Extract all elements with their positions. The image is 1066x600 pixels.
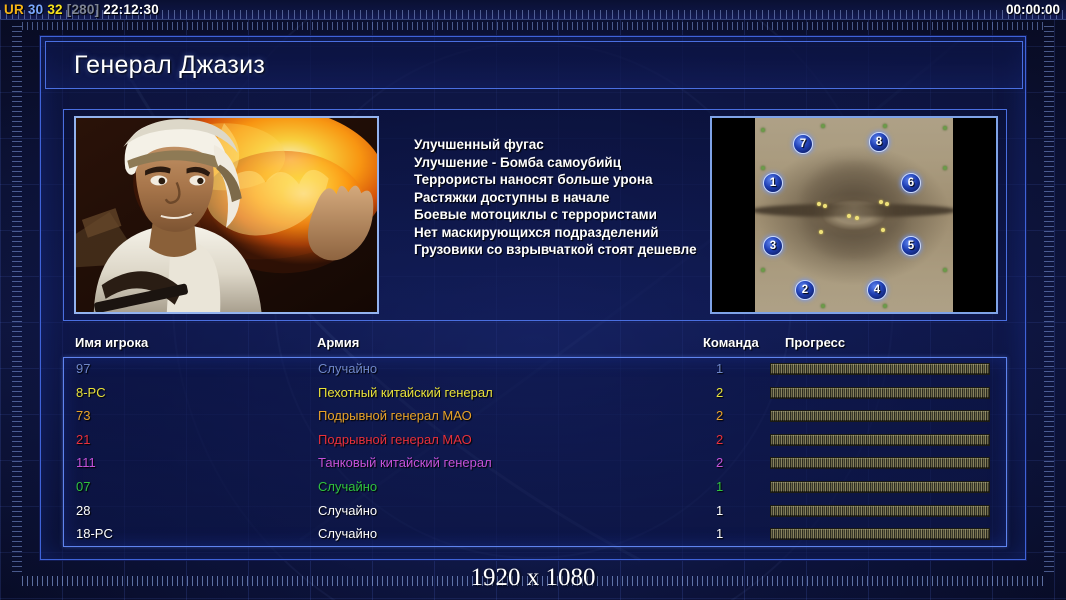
stat-bracket: [280] <box>67 2 100 17</box>
cell-team: 2 <box>716 408 723 423</box>
minimap-resource <box>855 216 859 220</box>
info-row: Улучшенный фугас Улучшение - Бомба самоу… <box>63 109 1007 321</box>
progress-bar <box>770 410 990 422</box>
top-status-bar: UR 30 32 [280] 22:12:30 00:00:00 <box>0 0 1066 20</box>
progress-bar <box>770 434 990 446</box>
title-bar: Генерал Джазиз <box>45 41 1023 89</box>
player-table-body: 97Случайно18-PCПехотный китайский генера… <box>63 357 1007 547</box>
minimap-start-position-1[interactable]: 1 <box>763 173 783 193</box>
minimap-resource <box>823 204 827 208</box>
minimap-resource <box>879 200 883 204</box>
cell-army: Случайно <box>318 479 377 494</box>
minimap-start-position-8[interactable]: 8 <box>869 132 889 152</box>
column-header-team: Команда <box>703 335 759 350</box>
minimap-prop <box>761 268 765 272</box>
minimap-prop <box>943 268 947 272</box>
cell-army: Пехотный китайский генерал <box>318 385 493 400</box>
description-line: Улучшенный фугас <box>414 136 754 154</box>
minimap-start-position-6[interactable]: 6 <box>901 173 921 193</box>
minimap-prop <box>943 126 947 130</box>
cell-team: 1 <box>716 479 723 494</box>
table-row[interactable]: 07Случайно1 <box>64 476 1006 500</box>
minimap-resource <box>885 202 889 206</box>
cell-player-name: 21 <box>76 432 90 447</box>
cell-army: Случайно <box>318 361 377 376</box>
cell-team: 2 <box>716 432 723 447</box>
minimap-resource <box>817 202 821 206</box>
minimap-prop <box>821 304 825 308</box>
progress-bar <box>770 481 990 493</box>
column-header-player-name: Имя игрока <box>75 335 148 350</box>
cell-team: 1 <box>716 503 723 518</box>
stat-clock: 22:12:30 <box>103 2 159 17</box>
minimap-start-position-2[interactable]: 2 <box>795 280 815 300</box>
stat-tag-u: UR <box>4 2 24 17</box>
cell-team: 2 <box>716 455 723 470</box>
minimap-prop <box>761 166 765 170</box>
column-header-army: Армия <box>317 335 359 350</box>
cell-player-name: 8-PC <box>76 385 106 400</box>
frame-ruler-left <box>12 26 22 574</box>
minimap-river <box>755 204 953 217</box>
description-line: Боевые мотоциклы с террористами <box>414 206 754 224</box>
cell-army: Случайно <box>318 526 377 541</box>
cell-player-name: 73 <box>76 408 90 423</box>
cell-player-name: 28 <box>76 503 90 518</box>
minimap-prop <box>943 166 947 170</box>
table-row[interactable]: 111Танковый китайский генерал2 <box>64 452 1006 476</box>
topbar-left-stats: UR 30 32 [280] 22:12:30 <box>0 2 163 17</box>
general-portrait <box>74 116 379 314</box>
minimap-prop <box>883 124 887 128</box>
cell-team: 2 <box>716 385 723 400</box>
cell-army: Подрывной генерал МАО <box>318 432 472 447</box>
minimap-start-position-3[interactable]: 3 <box>763 236 783 256</box>
progress-bar <box>770 363 990 375</box>
progress-bar <box>770 505 990 517</box>
column-header-progress: Прогресс <box>785 335 845 350</box>
cell-team: 1 <box>716 361 723 376</box>
table-row[interactable]: 73Подрывной генерал МАО2 <box>64 405 1006 429</box>
topbar-timer: 00:00:00 <box>1006 2 1060 17</box>
minimap-start-position-7[interactable]: 7 <box>793 134 813 154</box>
cell-player-name: 18-PC <box>76 526 113 541</box>
description-line: Грузовики со взрывчаткой стоят дешевле <box>414 241 754 259</box>
description-line: Террористы наносят больше урона <box>414 171 754 189</box>
progress-bar <box>770 528 990 540</box>
description-line: Нет маскирующихся подразделений <box>414 224 754 242</box>
main-panel: Генерал Джазиз <box>40 36 1026 560</box>
cell-army: Случайно <box>318 503 377 518</box>
cell-army: Танковый китайский генерал <box>318 455 492 470</box>
progress-bar <box>770 387 990 399</box>
general-description-list: Улучшенный фугас Улучшение - Бомба самоу… <box>414 136 754 259</box>
cell-army: Подрывной генерал МАО <box>318 408 472 423</box>
minimap-prop <box>761 128 765 132</box>
page-title: Генерал Джазиз <box>46 51 265 80</box>
table-row[interactable]: 18-PCСлучайно1 <box>64 523 1006 547</box>
minimap-start-position-4[interactable]: 4 <box>867 280 887 300</box>
description-line: Улучшение - Бомба самоубийц <box>414 154 754 172</box>
player-table-header: Имя игрока Армия Команда Прогресс <box>69 335 1009 355</box>
cell-team: 1 <box>716 526 723 541</box>
table-row[interactable]: 97Случайно1 <box>64 358 1006 382</box>
game-lobby-screen: UR 30 32 [280] 22:12:30 00:00:00 Генерал… <box>0 0 1066 600</box>
stat-value-2: 32 <box>47 2 62 17</box>
minimap-resource <box>819 230 823 234</box>
description-line: Растяжки доступны в начале <box>414 189 754 207</box>
minimap-image[interactable]: 7 8 1 6 3 5 2 4 <box>755 118 953 312</box>
cell-player-name: 97 <box>76 361 90 376</box>
stat-value-1: 30 <box>28 2 43 17</box>
progress-bar <box>770 457 990 469</box>
cell-player-name: 07 <box>76 479 90 494</box>
minimap-resource <box>847 214 851 218</box>
table-row[interactable]: 28Случайно1 <box>64 500 1006 524</box>
cell-player-name: 111 <box>76 455 96 470</box>
resolution-label: 1920 x 1080 <box>0 564 1066 592</box>
minimap-prop <box>821 124 825 128</box>
minimap-start-position-5[interactable]: 5 <box>901 236 921 256</box>
minimap-prop <box>883 304 887 308</box>
table-row[interactable]: 21Подрывной генерал МАО2 <box>64 429 1006 453</box>
table-row[interactable]: 8-PCПехотный китайский генерал2 <box>64 382 1006 406</box>
minimap-frame[interactable]: 7 8 1 6 3 5 2 4 <box>710 116 998 314</box>
minimap-resource <box>881 228 885 232</box>
frame-ruler-right <box>1044 26 1054 574</box>
frame-ruler-top <box>22 22 1044 30</box>
